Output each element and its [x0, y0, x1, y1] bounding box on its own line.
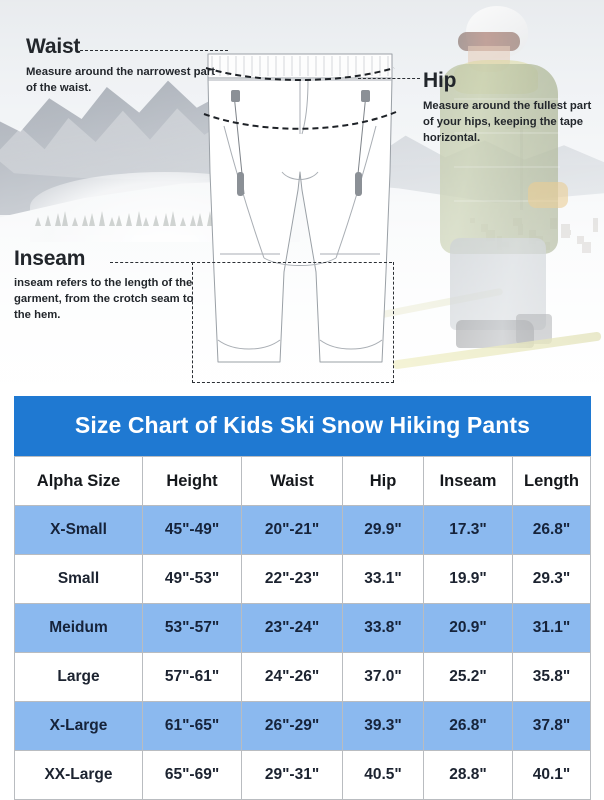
measurement-cell: 20.9" — [424, 604, 513, 653]
tree — [180, 217, 186, 226]
measurement-cell: 40.1" — [513, 751, 591, 800]
ski-glove — [528, 182, 568, 208]
inseam-measure-box — [192, 262, 394, 383]
measurement-cell: 29.3" — [513, 555, 591, 604]
tree — [62, 211, 68, 226]
measurement-cell: 37.0" — [343, 653, 424, 702]
tree — [153, 215, 159, 226]
measurement-cell: 49"-53" — [143, 555, 242, 604]
callout-inseam-description: inseam refers to the length of the garme… — [14, 275, 212, 323]
measurement-cell: 28.8" — [424, 751, 513, 800]
size-label-cell: XX-Large — [15, 751, 143, 800]
measurement-cell: 39.3" — [343, 702, 424, 751]
callout-waist: Waist Measure around the narrowest part … — [26, 36, 226, 96]
measurement-cell: 29.9" — [343, 506, 424, 555]
measurement-cell: 26.8" — [513, 506, 591, 555]
measurement-cell: 35.8" — [513, 653, 591, 702]
tree — [82, 215, 88, 226]
callout-inseam: Inseam inseam refers to the length of th… — [14, 248, 212, 323]
table-row: X-Small45"-49"20"-21"29.9"17.3"26.8" — [15, 506, 591, 555]
child-skier — [432, 2, 584, 362]
size-label-cell: X-Large — [15, 702, 143, 751]
hip-leader-line — [358, 78, 420, 79]
tree — [136, 211, 142, 226]
measurement-cell: 53"-57" — [143, 604, 242, 653]
measurement-cell: 24"-26" — [242, 653, 343, 702]
size-chart-title: Size Chart of Kids Ski Snow Hiking Pants — [14, 396, 591, 456]
measurement-cell: 29"-31" — [242, 751, 343, 800]
tree — [99, 211, 105, 226]
size-chart-page: Waist Measure around the narrowest part … — [0, 0, 604, 800]
column-header-3: Hip — [343, 457, 424, 506]
measurement-cell: 57"-61" — [143, 653, 242, 702]
callout-hip-title: Hip — [423, 70, 598, 91]
tree — [163, 213, 169, 226]
village-building — [593, 218, 598, 232]
size-label-cell: X-Small — [15, 506, 143, 555]
measurement-cell: 26.8" — [424, 702, 513, 751]
callout-hip: Hip Measure around the fullest part of y… — [423, 70, 598, 146]
measurement-cell: 20"-21" — [242, 506, 343, 555]
measurement-cell: 31.1" — [513, 604, 591, 653]
callout-waist-title: Waist — [26, 36, 226, 57]
measurement-cell: 19.9" — [424, 555, 513, 604]
table-header-row: Alpha SizeHeightWaistHipInseamLength — [15, 457, 591, 506]
tree — [170, 211, 176, 226]
tree — [143, 217, 149, 226]
tree — [45, 215, 51, 226]
callout-waist-description: Measure around the narrowest part of the… — [26, 64, 226, 96]
size-chart-table: Size Chart of Kids Ski Snow Hiking Pants… — [14, 396, 591, 800]
measurement-cell: 45"-49" — [143, 506, 242, 555]
tree — [55, 213, 61, 226]
size-chart-table-wrapper: Size Chart of Kids Ski Snow Hiking Pants… — [14, 396, 590, 800]
column-header-1: Height — [143, 457, 242, 506]
jacket-quilt-line — [454, 166, 560, 168]
measurement-cell: 17.3" — [424, 506, 513, 555]
size-label-cell: Small — [15, 555, 143, 604]
measurement-cell: 33.8" — [343, 604, 424, 653]
measurement-cell: 61"-65" — [143, 702, 242, 751]
column-header-5: Length — [513, 457, 591, 506]
tree — [126, 213, 132, 226]
measurement-cell: 25.2" — [424, 653, 513, 702]
measurement-cell: 40.5" — [343, 751, 424, 800]
hero-illustration-panel: Waist Measure around the narrowest part … — [0, 0, 604, 390]
measurement-cell: 26"-29" — [242, 702, 343, 751]
table-row: X-Large61"-65"26"-29"39.3"26.8"37.8" — [15, 702, 591, 751]
table-body: X-Small45"-49"20"-21"29.9"17.3"26.8"Smal… — [15, 506, 591, 800]
callout-hip-description: Measure around the fullest part of your … — [423, 98, 598, 146]
callout-inseam-title: Inseam — [14, 248, 212, 269]
size-label-cell: Meidum — [15, 604, 143, 653]
tree — [35, 217, 41, 226]
size-label-cell: Large — [15, 653, 143, 702]
measurement-cell: 37.8" — [513, 702, 591, 751]
tree — [116, 215, 122, 226]
table-row: Meidum53"-57"23"-24"33.8"20.9"31.1" — [15, 604, 591, 653]
column-header-4: Inseam — [424, 457, 513, 506]
tree — [109, 217, 115, 226]
table-header: Alpha SizeHeightWaistHipInseamLength — [15, 457, 591, 506]
column-header-0: Alpha Size — [15, 457, 143, 506]
table-row: XX-Large65"-69"29"-31"40.5"28.8"40.1" — [15, 751, 591, 800]
table-row: Large57"-61"24"-26"37.0"25.2"35.8" — [15, 653, 591, 702]
tree — [89, 213, 95, 226]
column-header-2: Waist — [242, 457, 343, 506]
measurement-cell: 23"-24" — [242, 604, 343, 653]
table-row: Small49"-53"22"-23"33.1"19.9"29.3" — [15, 555, 591, 604]
measurement-cell: 65"-69" — [143, 751, 242, 800]
tree — [72, 217, 78, 226]
measurement-cell: 33.1" — [343, 555, 424, 604]
measurement-cell: 22"-23" — [242, 555, 343, 604]
